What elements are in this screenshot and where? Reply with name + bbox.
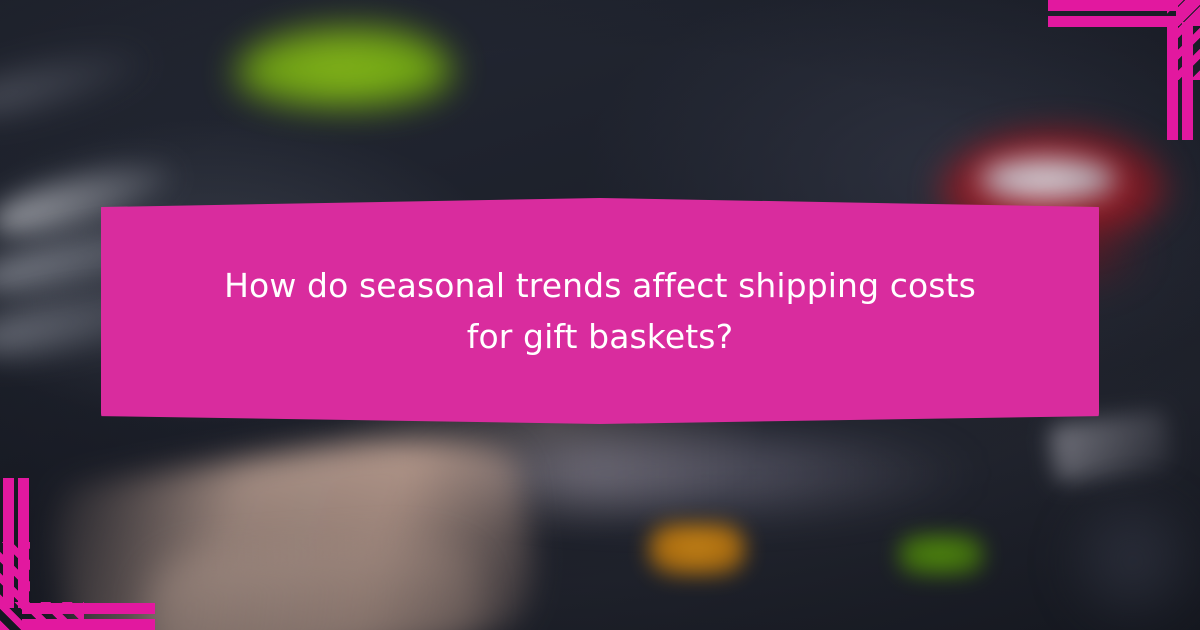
banner-text-container: How do seasonal trends affect shipping c… <box>101 198 1099 424</box>
question-banner: How do seasonal trends affect shipping c… <box>101 198 1099 424</box>
social-card-canvas: How do seasonal trends affect shipping c… <box>0 0 1200 630</box>
question-title: How do seasonal trends affect shipping c… <box>205 260 995 362</box>
